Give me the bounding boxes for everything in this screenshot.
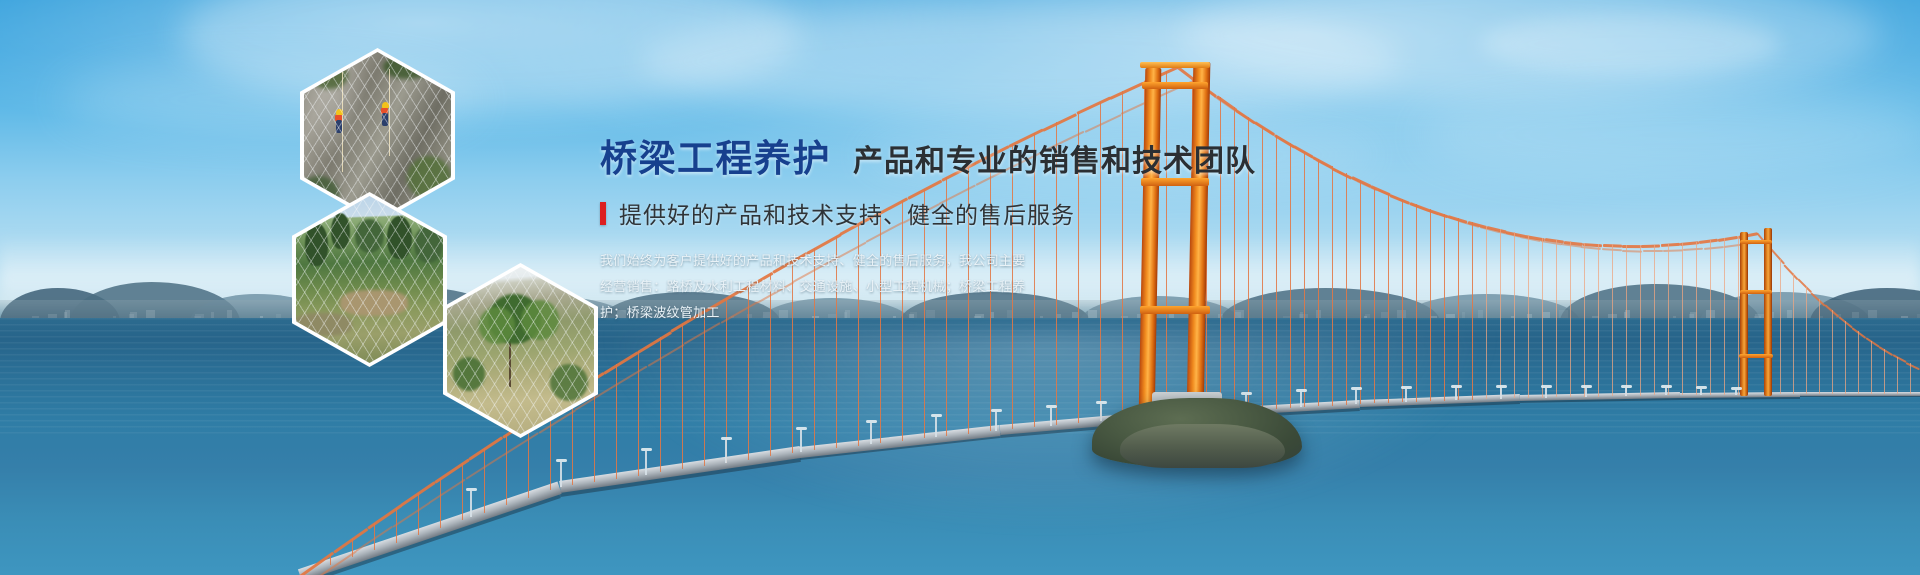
photo-green-slope-netting xyxy=(296,196,443,363)
bridge-hanger xyxy=(1724,238,1725,395)
bridge-lamp-post xyxy=(1455,388,1457,400)
bridge-lamp-post xyxy=(1500,388,1502,399)
tower-leg xyxy=(1764,228,1772,396)
bridge-hanger xyxy=(1262,126,1263,410)
bridge-hanger xyxy=(1696,242,1697,395)
bridge-hanger xyxy=(1832,310,1833,394)
tower-crossbeam xyxy=(1142,82,1208,89)
photo-rockfall-netting-workers xyxy=(304,52,451,219)
bridge-hanger xyxy=(1626,245,1627,396)
bridge-lamp-post xyxy=(1405,389,1407,402)
bridge-hanger xyxy=(1640,245,1641,396)
bridge-hanger xyxy=(1430,209,1431,401)
bridge-hanger xyxy=(682,324,683,469)
bridge-hanger xyxy=(1290,143,1291,408)
subtitle: 提供好的产品和技术支持、健全的售后服务 xyxy=(619,196,1075,230)
bridge-hanger xyxy=(1858,331,1859,394)
bridge-hanger xyxy=(1402,199,1403,403)
tower-crossbeam xyxy=(1140,62,1210,68)
bridge-lamp-post xyxy=(1585,388,1587,397)
body-paragraph: 我们始终为客户提供好的产品和技术支持、健全的售后服务，我公司主要经营销售：路桥及… xyxy=(600,248,1030,326)
bridge-hanger xyxy=(1598,244,1599,397)
bridge-hanger xyxy=(1276,135,1277,409)
bridge-hanger xyxy=(506,434,507,505)
bridge-hanger xyxy=(660,337,661,472)
headline-primary: 桥梁工程养护 xyxy=(600,140,831,177)
bridge-hanger xyxy=(396,508,397,543)
bridge-lamp-post xyxy=(560,462,562,487)
tower-crossbeam xyxy=(1740,240,1772,244)
photo-grass-slope-netting xyxy=(447,267,594,434)
bridge-island-lower xyxy=(1120,424,1285,468)
bridge-hanger xyxy=(1780,259,1781,394)
tower-crossbeam xyxy=(1740,290,1772,294)
accent-bar xyxy=(600,202,606,225)
bridge-lamp-post xyxy=(1735,390,1737,395)
bridge-hanger xyxy=(1884,349,1885,394)
bridge-hanger xyxy=(1556,240,1557,398)
bridge-hanger xyxy=(1871,341,1872,394)
bridge-lamp-post xyxy=(1050,408,1052,426)
bridge-lamp-post xyxy=(1700,389,1702,395)
tower-leg xyxy=(1740,232,1748,396)
bridge-hanger xyxy=(1668,244,1669,395)
bridge-hanger xyxy=(1710,240,1711,395)
bridge-hanger xyxy=(330,554,331,565)
bridge-lamp-post xyxy=(995,412,997,431)
bridge-lamp-post xyxy=(470,491,472,517)
bridge-hanger xyxy=(1486,226,1487,399)
bridge-hanger xyxy=(1654,245,1655,396)
bridge-hanger xyxy=(1910,363,1911,394)
bridge-lamp-post xyxy=(1355,390,1357,404)
bridge-hanger xyxy=(1584,243,1585,397)
bridge-lamp-post xyxy=(800,430,802,452)
bridge-hanger xyxy=(1444,214,1445,401)
banner-text-block: 桥梁工程养护 产品和专业的销售和技术团队 提供好的产品和技术支持、健全的售后服务… xyxy=(600,140,1260,326)
bridge-hanger xyxy=(352,538,353,557)
headline: 桥梁工程养护 产品和专业的销售和技术团队 xyxy=(600,140,1260,177)
bridge-hanger xyxy=(1304,151,1305,407)
bridge-hanger xyxy=(1332,166,1333,405)
bridge-lamp-post xyxy=(1545,388,1547,398)
bridge-hanger xyxy=(1388,193,1389,403)
bridge-hanger xyxy=(1458,218,1459,400)
bridge-hanger xyxy=(1528,235,1529,398)
bridge-lamp-post xyxy=(1665,388,1667,395)
tower-crossbeam xyxy=(1739,354,1773,358)
bridge-hanger xyxy=(1500,229,1501,398)
headline-secondary: 产品和专业的销售和技术团队 xyxy=(853,147,1256,177)
hero-banner: 桥梁工程养护 产品和专业的销售和技术团队 提供好的产品和技术支持、健全的售后服务… xyxy=(0,0,1920,575)
bridge-lamp-post xyxy=(1300,392,1302,407)
bridge-lamp-post xyxy=(935,417,937,437)
bridge-hanger xyxy=(1318,159,1319,406)
bridge-hanger xyxy=(1542,238,1543,398)
bridge-hanger xyxy=(704,311,705,466)
bridge-hanger xyxy=(1806,286,1807,394)
bridge-hanger xyxy=(440,478,441,528)
bridge-hanger xyxy=(418,493,419,535)
bridge-tower-far xyxy=(1738,228,1778,396)
bridge-hanger xyxy=(1514,232,1515,398)
bridge-lamp-post xyxy=(1625,388,1627,396)
bridge-lamp-post xyxy=(645,451,647,475)
bridge-hanger xyxy=(1897,357,1898,394)
bridge-hanger xyxy=(462,463,463,520)
bridge-hanger xyxy=(1682,243,1683,395)
bridge-hanger xyxy=(1472,222,1473,400)
bridge-hanger xyxy=(1819,299,1820,394)
bridge-hanger xyxy=(616,364,617,479)
bridge-hanger xyxy=(1416,204,1417,402)
bridge-lamp-post xyxy=(870,423,872,444)
bridge-hanger xyxy=(374,523,375,550)
bridge-hanger xyxy=(1793,273,1794,394)
bridge-hanger xyxy=(1570,241,1571,397)
bridge-lamp-post xyxy=(1100,404,1102,421)
bridge-hanger xyxy=(1845,321,1846,394)
subtitle-row: 提供好的产品和技术支持、健全的售后服务 xyxy=(600,196,1260,230)
bridge-hanger xyxy=(1612,244,1613,396)
bridge-hanger xyxy=(638,351,639,476)
bridge-hanger xyxy=(1374,187,1375,404)
bridge-lamp-post xyxy=(725,440,727,463)
bridge-hanger xyxy=(1360,180,1361,404)
bridge-hanger xyxy=(484,448,485,512)
bridge-hanger xyxy=(1346,173,1347,404)
